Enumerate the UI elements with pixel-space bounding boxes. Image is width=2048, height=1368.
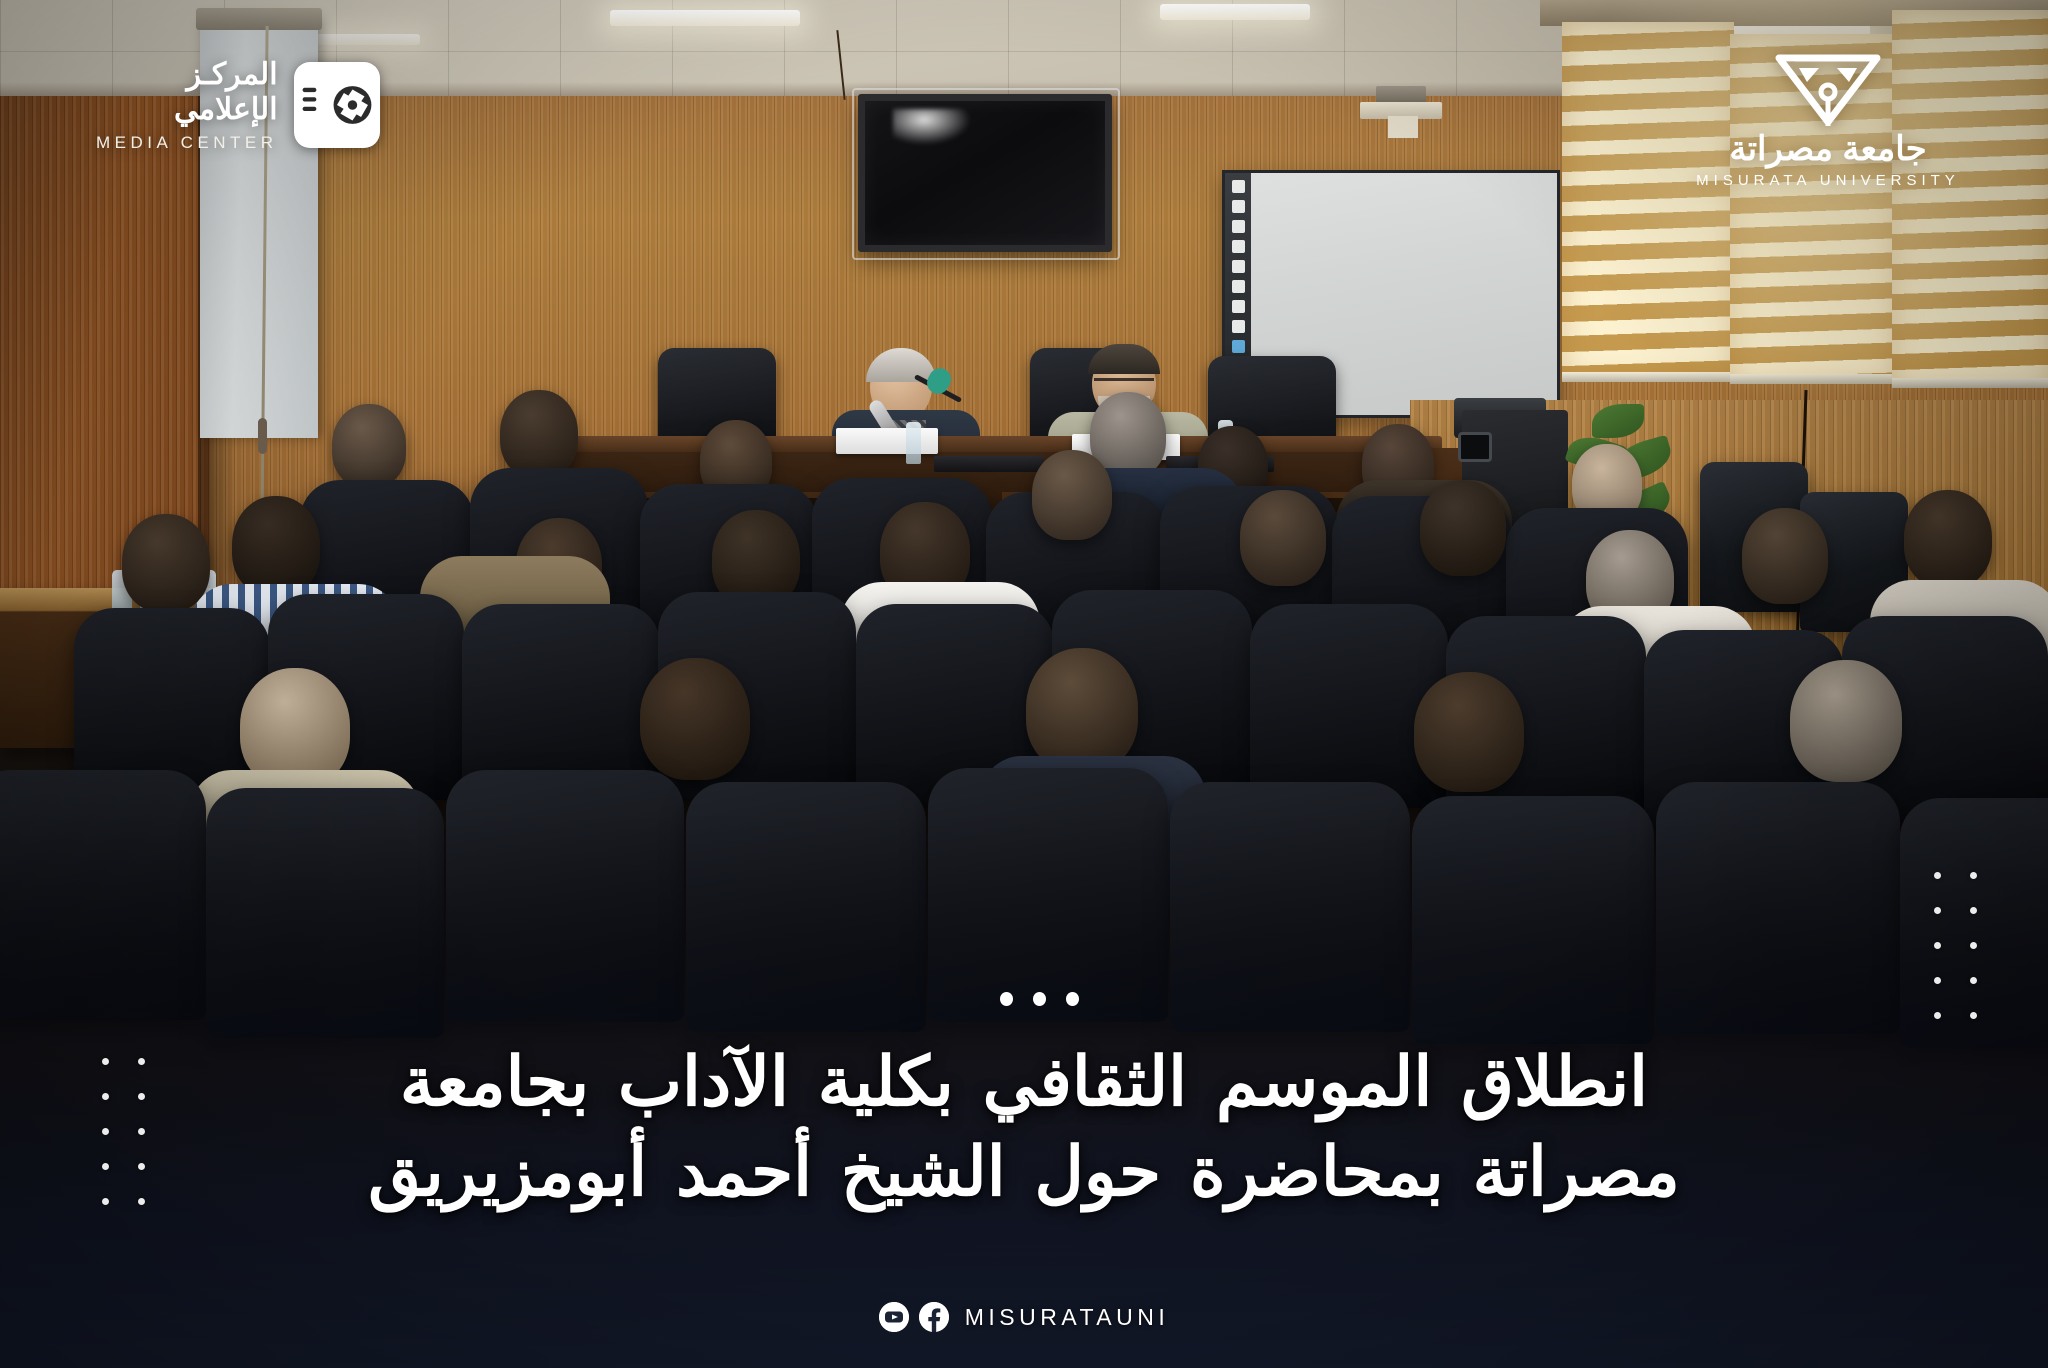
university-crest-icon	[1769, 52, 1887, 130]
poster-root: المركـز الإعلامي MEDIA CENTER	[0, 0, 2048, 1368]
social-handle: MISURATAUNI	[965, 1304, 1170, 1331]
headline-ellipsis	[1000, 992, 1079, 1006]
university-english: MISURATA UNIVERSITY	[1678, 172, 1978, 189]
audience-seat	[446, 770, 684, 1022]
audience-seat	[206, 788, 444, 1038]
headline-line-2: مصراتة بمحاضرة حول الشيخ أحمد أبومزيريق	[150, 1128, 1898, 1218]
attendee-head	[122, 514, 210, 612]
attendee-head	[1240, 490, 1326, 586]
media-center-arabic-line1: المركـز	[96, 58, 278, 93]
camera-aperture-icon	[294, 62, 380, 148]
university-arabic: جامعة مصراتة	[1678, 132, 1978, 166]
facebook-icon[interactable]	[919, 1302, 949, 1332]
media-center-arabic-line2: الإعلامي	[96, 93, 278, 128]
audience-seat	[1170, 782, 1410, 1032]
youtube-icon[interactable]	[879, 1302, 909, 1332]
attendee-head	[1026, 648, 1138, 772]
social-footer: MISURATAUNI	[0, 1302, 2048, 1332]
audience-seat	[1412, 796, 1654, 1044]
headline-line-1: انطلاق الموسم الثقافي بكلية الآداب بجامع…	[150, 1038, 1898, 1128]
audience-seat	[0, 770, 206, 1020]
attendee-head	[1420, 480, 1506, 576]
audience-seating	[0, 520, 2048, 1368]
attendee-head	[1790, 660, 1902, 782]
attendee-head	[1742, 508, 1828, 604]
speaker-glasses	[1094, 378, 1154, 390]
attendee-head	[1414, 672, 1524, 792]
projector-tag	[1388, 116, 1418, 138]
dot-grid-right	[1934, 872, 1976, 1019]
screen-housing	[196, 8, 322, 30]
ceiling-projector	[1360, 86, 1442, 126]
desk-device	[934, 456, 1044, 472]
attendee-head	[640, 658, 750, 780]
media-center-logo: المركـز الإعلامي MEDIA CENTER	[96, 58, 380, 153]
ceiling-light	[300, 34, 420, 45]
camera-lens	[1458, 432, 1492, 462]
flat-screen-tv	[858, 94, 1112, 252]
audience-seat	[928, 768, 1168, 1022]
attendee-head	[1904, 490, 1992, 588]
audience-seat	[1656, 782, 1900, 1034]
screen-pull-knob	[258, 418, 267, 454]
attendee-head	[332, 404, 406, 488]
ceiling-light	[610, 10, 800, 26]
headline-block: انطلاق الموسم الثقافي بكلية الآداب بجامع…	[0, 1038, 2048, 1218]
attendee-head	[500, 390, 578, 478]
attendee-head	[1032, 450, 1112, 540]
water-bottle	[906, 422, 921, 464]
nameplate	[836, 428, 938, 454]
attendee-head	[232, 496, 320, 596]
ceiling-light	[1160, 4, 1310, 20]
audience-seat	[686, 782, 926, 1032]
misurata-university-logo: جامعة مصراتة MISURATA UNIVERSITY	[1678, 52, 1978, 189]
media-center-english: MEDIA CENTER	[96, 133, 278, 153]
